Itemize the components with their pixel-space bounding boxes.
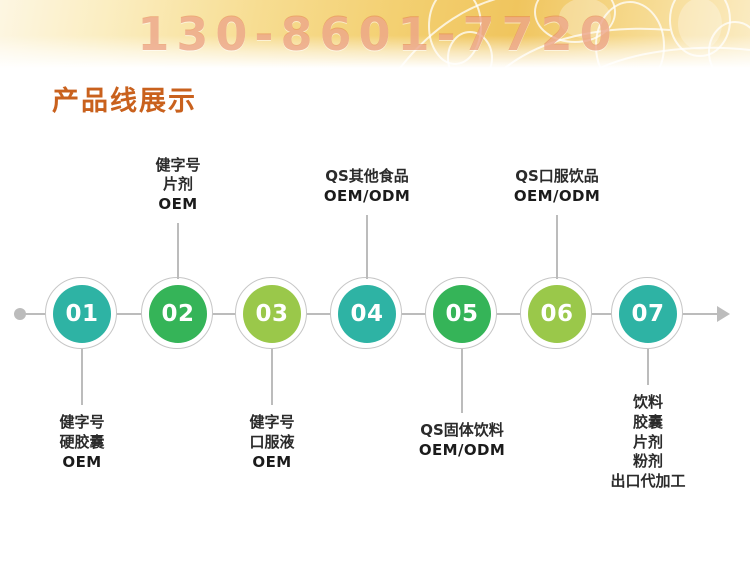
label-line: OEM — [59, 453, 104, 473]
label-line: 出口代加工 — [610, 472, 685, 492]
label-line: QS口服饮品 — [514, 167, 600, 187]
node-connector-stem — [647, 349, 649, 385]
label-line: OEM/ODM — [324, 187, 410, 207]
node-connector-stem — [556, 215, 558, 279]
node-number-badge: 04 — [338, 285, 396, 343]
timeline-node-04[interactable]: 04QS其他食品OEM/ODM — [330, 277, 404, 351]
node-connector-stem — [271, 349, 273, 405]
node-number-badge: 01 — [53, 285, 111, 343]
page-title: 产品线展示 — [52, 79, 197, 118]
label-line: OEM — [249, 453, 294, 473]
timeline-arrow-right-icon — [717, 306, 730, 322]
label-line: 片剂 — [155, 175, 200, 195]
label-line: 健字号 — [155, 156, 200, 176]
label-line: QS固体饮料 — [419, 421, 505, 441]
node-label-07: 饮料胶囊片剂粉剂出口代加工 — [610, 393, 685, 492]
timeline-node-02[interactable]: 02健字号片剂OEM — [141, 277, 215, 351]
header-banner: 130-8601-7720 — [0, 0, 750, 68]
node-number-badge: 06 — [528, 285, 586, 343]
label-line: QS其他食品 — [324, 167, 410, 187]
label-line: OEM — [155, 195, 200, 215]
label-line: 胶囊 — [610, 413, 685, 433]
node-connector-stem — [366, 215, 368, 279]
node-connector-stem — [81, 349, 83, 405]
label-line: OEM/ODM — [514, 187, 600, 207]
node-label-02: 健字号片剂OEM — [155, 156, 200, 215]
product-line-timeline: 01健字号硬胶囊OEM02健字号片剂OEM03健字号口服液OEM04QS其他食品… — [0, 140, 750, 540]
timeline-node-07[interactable]: 07饮料胶囊片剂粉剂出口代加工 — [611, 277, 685, 351]
label-line: OEM/ODM — [419, 441, 505, 461]
timeline-start-dot-icon — [14, 308, 26, 320]
phone-number-watermark: 130-8601-7720 — [0, 0, 750, 68]
node-label-05: QS固体饮料OEM/ODM — [419, 421, 505, 461]
node-label-04: QS其他食品OEM/ODM — [324, 167, 410, 207]
label-line: 健字号 — [59, 413, 104, 433]
node-connector-stem — [177, 223, 179, 279]
label-line: 硬胶囊 — [59, 433, 104, 453]
label-line: 口服液 — [249, 433, 294, 453]
node-label-06: QS口服饮品OEM/ODM — [514, 167, 600, 207]
node-number-badge: 02 — [149, 285, 207, 343]
label-line: 饮料 — [610, 393, 685, 413]
timeline-node-06[interactable]: 06QS口服饮品OEM/ODM — [520, 277, 594, 351]
timeline-node-03[interactable]: 03健字号口服液OEM — [235, 277, 309, 351]
timeline-node-01[interactable]: 01健字号硬胶囊OEM — [45, 277, 119, 351]
node-number-badge: 05 — [433, 285, 491, 343]
node-number-badge: 03 — [243, 285, 301, 343]
label-line: 健字号 — [249, 413, 294, 433]
node-connector-stem — [461, 349, 463, 413]
label-line: 片剂 — [610, 433, 685, 453]
node-label-01: 健字号硬胶囊OEM — [59, 413, 104, 472]
timeline-node-05[interactable]: 05QS固体饮料OEM/ODM — [425, 277, 499, 351]
node-label-03: 健字号口服液OEM — [249, 413, 294, 472]
node-number-badge: 07 — [619, 285, 677, 343]
slide-canvas: 130-8601-7720 产品线展示 01健字号硬胶囊OEM02健字号片剂OE… — [0, 0, 750, 563]
label-line: 粉剂 — [610, 452, 685, 472]
